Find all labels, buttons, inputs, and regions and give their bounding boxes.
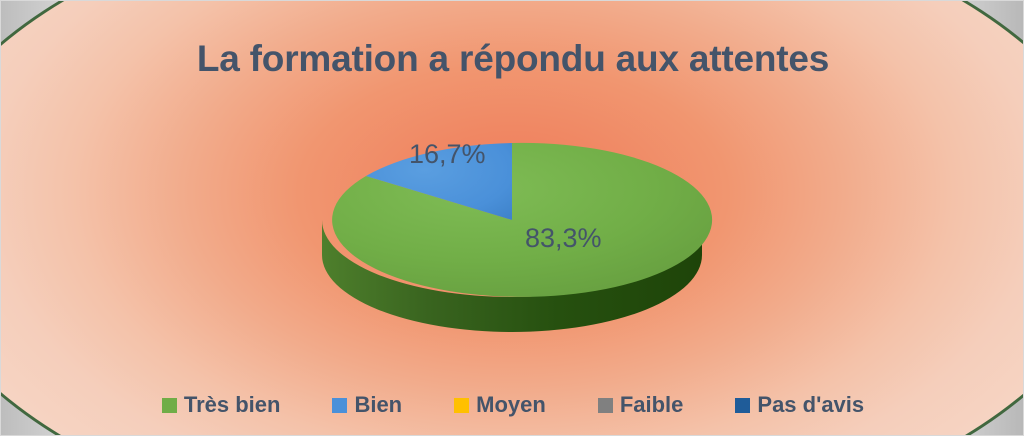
slide-canvas: La formation a répondu aux attentes: [0, 0, 1024, 436]
legend-swatch-icon: [598, 398, 613, 413]
legend-swatch-icon: [735, 398, 750, 413]
legend-label: Très bien: [184, 394, 281, 416]
pie-chart: La formation a répondu aux attentes: [1, 1, 1024, 436]
chart-title: La formation a répondu aux attentes: [1, 38, 1024, 80]
legend-swatch-icon: [162, 398, 177, 413]
legend-item-tres-bien[interactable]: Très bien: [162, 394, 281, 416]
legend-swatch-icon: [332, 398, 347, 413]
legend-item-faible[interactable]: Faible: [598, 394, 684, 416]
legend-swatch-icon: [454, 398, 469, 413]
legend-label: Bien: [354, 394, 402, 416]
data-label-bien: 16,7%: [409, 139, 486, 170]
legend-label: Pas d'avis: [757, 394, 864, 416]
pie-svg: [319, 123, 705, 318]
legend-label: Moyen: [476, 394, 546, 416]
chart-legend: Très bien Bien Moyen Faible Pas d'avis: [1, 389, 1024, 421]
legend-item-pas-davis[interactable]: Pas d'avis: [735, 394, 864, 416]
legend-label: Faible: [620, 394, 684, 416]
legend-item-bien[interactable]: Bien: [332, 394, 402, 416]
pie-graphic: [319, 123, 705, 318]
legend-item-moyen[interactable]: Moyen: [454, 394, 546, 416]
data-label-tres-bien: 83,3%: [525, 223, 602, 254]
